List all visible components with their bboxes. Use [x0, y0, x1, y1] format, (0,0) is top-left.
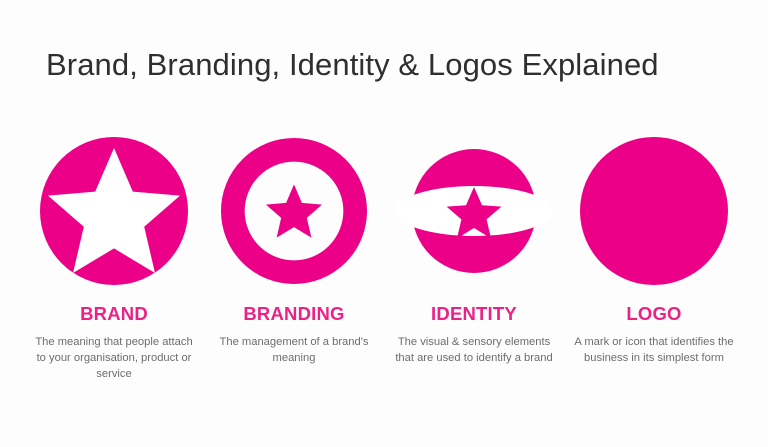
circle-with-white-lens-band-and-star-icon: [394, 135, 554, 287]
pink-ring-with-small-star-icon: [220, 137, 368, 285]
concept-column-brand: BRAND The meaning that people attach to …: [24, 132, 204, 382]
concept-label-logo: LOGO: [626, 304, 681, 324]
icon-wrap-brand: [34, 132, 194, 290]
icon-wrap-branding: [214, 132, 374, 290]
page-title: Brand, Branding, Identity & Logos Explai…: [46, 47, 659, 83]
concept-description-logo: A mark or icon that identifies the busin…: [572, 334, 737, 366]
concept-column-branding: BRANDING The management of a brand's mea…: [204, 132, 384, 366]
concept-description-branding: The management of a brand's meaning: [212, 334, 377, 366]
concept-label-identity: IDENTITY: [431, 304, 517, 324]
icon-wrap-logo: [574, 132, 734, 290]
infographic-canvas: Brand, Branding, Identity & Logos Explai…: [0, 0, 768, 447]
solid-filled-circle-icon: [579, 136, 729, 286]
concept-column-logo: LOGO A mark or icon that identifies the …: [564, 132, 744, 366]
filled-circle-with-large-white-star-icon: [39, 136, 189, 286]
concept-columns: BRAND The meaning that people attach to …: [24, 132, 744, 382]
concept-column-identity: IDENTITY The visual & sensory elements t…: [384, 132, 564, 366]
concept-label-branding: BRANDING: [243, 304, 344, 324]
icon-wrap-identity: [394, 132, 554, 290]
concept-label-brand: BRAND: [80, 304, 148, 324]
concept-description-identity: The visual & sensory elements that are u…: [392, 334, 557, 366]
concept-description-brand: The meaning that people attach to your o…: [32, 334, 197, 382]
